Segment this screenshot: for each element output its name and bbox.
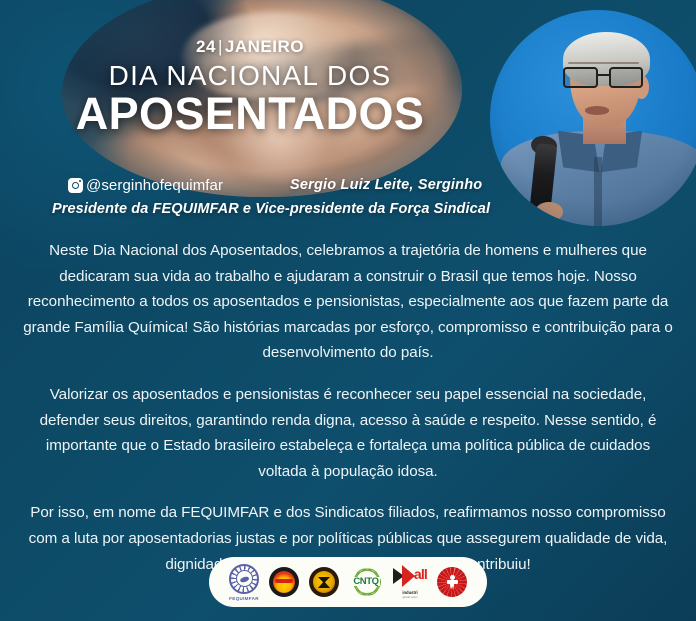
- instagram-handle-text: @serginhofequimfar: [86, 177, 223, 194]
- paragraph-2: Valorizar os aposentados e pensionistas …: [22, 382, 674, 484]
- page-title-line-1: DIA NACIONAL DOS: [40, 61, 460, 90]
- logo-fequimfar: FEQUIMFAR: [229, 564, 259, 601]
- instagram-icon: [68, 178, 83, 193]
- figure-head: [450, 575, 455, 580]
- portrait-vignette: [490, 10, 696, 226]
- logo-forca-sindical: [269, 567, 299, 597]
- portrait-photo-serginho: [490, 10, 696, 226]
- page-title-line-2: APOSENTADOS: [40, 91, 460, 136]
- person-name: Sergio Luiz Leite, Serginho: [290, 177, 482, 193]
- fequimfar-caption: FEQUIMFAR: [229, 596, 259, 601]
- kicker-month: JANEIRO: [225, 37, 304, 56]
- date-kicker: 24|JANEIRO: [40, 38, 460, 55]
- industriall-subtitle: global union: [402, 595, 417, 599]
- red-emblem-icon: [437, 567, 467, 597]
- logo-red-emblem: [437, 567, 467, 597]
- logo-cntq: CNTQ: [349, 569, 383, 596]
- fequimfar-gear-inner: [236, 570, 253, 587]
- cntq-wordmark: CNTQ: [352, 577, 379, 587]
- cntq-atom-icon: CNTQ: [349, 569, 383, 595]
- forca-sindical-emblem-icon: [269, 567, 299, 597]
- kicker-separator: |: [218, 38, 223, 55]
- fequimfar-gear-icon: [229, 564, 259, 594]
- figure-legs: [450, 583, 455, 590]
- kicker-day: 24: [196, 37, 216, 56]
- paragraph-1: Neste Dia Nacional dos Aposentados, cele…: [22, 238, 674, 366]
- industriall-mark-icon: all: [393, 565, 427, 589]
- red-emblem-figure: [447, 575, 458, 590]
- logo-quimica-unidos: [309, 567, 339, 597]
- partner-logo-bar: FEQUIMFAR CNTQ all industri global: [209, 557, 487, 607]
- logo-industriall: all industri global union: [393, 565, 427, 599]
- quimica-emblem-icon: [309, 567, 339, 597]
- industriall-all-wordmark: all: [414, 567, 427, 581]
- person-role: Presidente da FEQUIMFAR e Vice-president…: [52, 201, 490, 217]
- poster-canvas: 24|JANEIRO DIA NACIONAL DOS APOSENTADOS …: [0, 0, 696, 621]
- headline-block: 24|JANEIRO DIA NACIONAL DOS APOSENTADOS: [40, 38, 460, 136]
- body-copy: Neste Dia Nacional dos Aposentados, cele…: [22, 238, 674, 577]
- instagram-handle-row[interactable]: @serginhofequimfar: [68, 177, 223, 194]
